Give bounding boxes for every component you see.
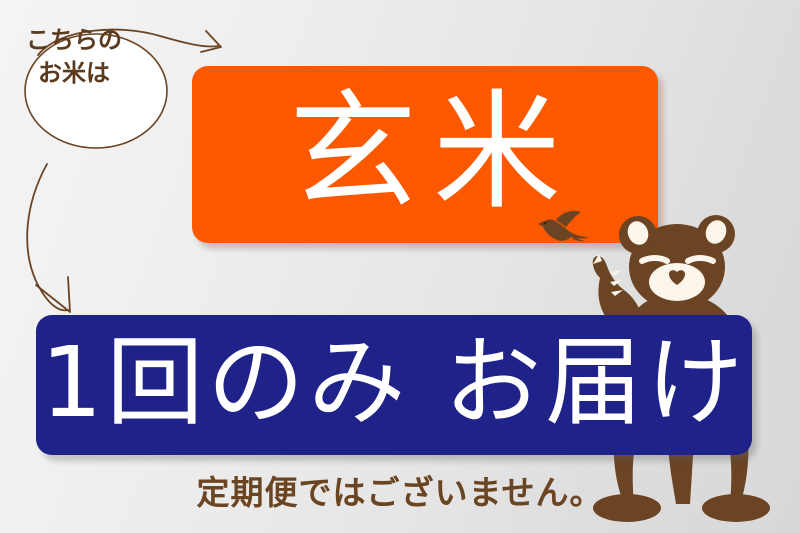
- bear-eye-left: [642, 258, 667, 261]
- blue-banner-label: 1回のみ お届け: [41, 334, 748, 431]
- arrow-left-curve: [27, 164, 68, 310]
- blue-banner[interactable]: 1回のみ お届け: [36, 315, 752, 455]
- orange-banner-label: 玄米: [273, 89, 577, 217]
- promo-banner-canvas: こちらの お米は 玄米: [0, 0, 800, 533]
- arrow-top-head: [201, 31, 221, 52]
- arrow-left-head: [36, 277, 70, 312]
- speech-bubble: [22, 28, 170, 160]
- caption-text: 定期便ではございません。: [0, 466, 800, 514]
- bear-eye-right: [688, 258, 713, 261]
- speech-bubble-shape: [25, 34, 167, 148]
